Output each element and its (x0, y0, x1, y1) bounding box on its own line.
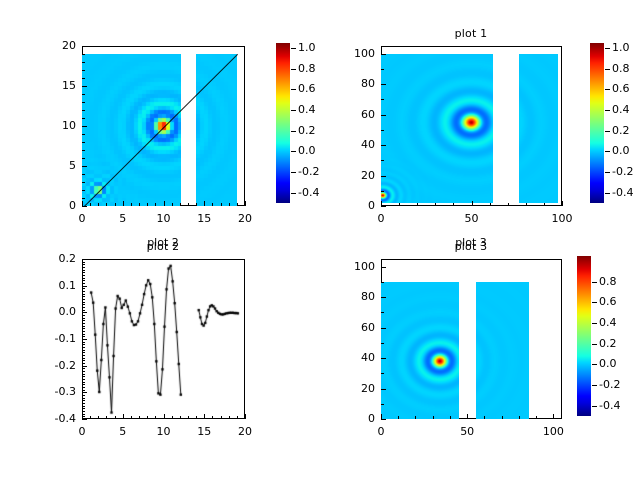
y-tick (381, 145, 386, 146)
colorbar-gradient (577, 256, 591, 416)
plot-area-bottom-left (82, 259, 245, 419)
y-tick-label: -0.4 (24, 412, 76, 425)
x-tick (562, 201, 563, 206)
y-minor-tick (82, 110, 85, 111)
image-block (381, 282, 459, 419)
x-minor-tick (115, 416, 116, 419)
y-minor-tick (82, 158, 85, 159)
y-tick (381, 328, 386, 329)
y-tick (82, 126, 87, 127)
y-minor-tick (82, 387, 85, 388)
y-minor-tick (82, 342, 85, 343)
y-tick (381, 206, 386, 207)
colorbar-tick-label: 0.4 (612, 103, 630, 116)
colorbar-tick-label: 0.8 (612, 62, 630, 75)
y-minor-tick (381, 343, 384, 344)
y-minor-tick (82, 371, 85, 372)
y-minor-tick (82, 414, 85, 415)
y-tick-label: -0.1 (24, 332, 76, 345)
x-minor-tick (221, 416, 222, 419)
y-minor-tick (82, 323, 85, 324)
colorbar-tick-label: 0.6 (612, 82, 630, 95)
y-tick-label: 20 (24, 39, 76, 52)
x-minor-tick (221, 203, 222, 206)
y-tick-label: 60 (323, 108, 375, 121)
y-minor-tick (82, 280, 85, 281)
x-tick-label: 100 (528, 425, 578, 438)
y-minor-tick (82, 360, 85, 361)
y-minor-tick (82, 310, 85, 311)
y-tick-label: -0.2 (24, 359, 76, 372)
colorbar-tick (592, 385, 597, 386)
colorbar-tick (592, 302, 597, 303)
colorbar-tick (291, 172, 296, 173)
x-tick (472, 201, 473, 206)
x-minor-tick (453, 203, 454, 206)
y-minor-tick (82, 331, 85, 332)
y-minor-tick (82, 382, 85, 383)
colorbar-tick (605, 89, 610, 90)
y-tick (381, 115, 386, 116)
x-minor-tick (139, 416, 140, 419)
y-minor-tick (82, 374, 85, 375)
x-minor-tick (180, 416, 181, 419)
x-tick (467, 414, 468, 419)
x-minor-tick (450, 416, 451, 419)
y-minor-tick (82, 62, 85, 63)
colorbar-tick (605, 69, 610, 70)
y-minor-tick (82, 302, 85, 303)
colorbar-tick-label: -0.4 (599, 399, 620, 412)
x-minor-tick (399, 203, 400, 206)
y-minor-tick (82, 352, 85, 353)
colorbar (577, 256, 591, 416)
y-minor-tick (82, 190, 85, 191)
y-minor-tick (82, 262, 85, 263)
colorbar-tick (605, 151, 610, 152)
x-tick-label: 20 (220, 212, 270, 225)
y-minor-tick (381, 160, 384, 161)
y-tick-label: 5 (24, 159, 76, 172)
y-tick (82, 312, 87, 313)
panel-title: plot 3 (391, 240, 551, 253)
y-minor-tick (82, 326, 85, 327)
x-minor-tick (155, 416, 156, 419)
x-minor-tick (139, 203, 140, 206)
y-tick (82, 419, 87, 420)
y-minor-tick (82, 299, 85, 300)
x-minor-tick (212, 416, 213, 419)
y-tick-label: 100 (323, 260, 375, 273)
x-minor-tick (212, 203, 213, 206)
x-tick (164, 201, 165, 206)
y-minor-tick (381, 130, 384, 131)
y-tick (381, 176, 386, 177)
x-minor-tick (237, 416, 238, 419)
y-minor-tick (82, 264, 85, 265)
y-tick (381, 54, 386, 55)
y-minor-tick (82, 70, 85, 71)
colorbar-tick-label: 0.0 (612, 144, 630, 157)
y-minor-tick (82, 94, 85, 95)
x-minor-tick (90, 203, 91, 206)
y-tick (82, 86, 87, 87)
colorbar-tick-label: -0.4 (612, 186, 633, 199)
y-minor-tick (82, 334, 85, 335)
y-tick (82, 286, 87, 287)
x-minor-tick (415, 416, 416, 419)
x-minor-tick (147, 416, 148, 419)
image-block (196, 54, 237, 206)
y-minor-tick (82, 296, 85, 297)
x-tick (123, 414, 124, 419)
pcolor-mesh (196, 54, 237, 206)
colorbar-tick (592, 406, 597, 407)
y-minor-tick (82, 363, 85, 364)
y-minor-tick (82, 408, 85, 409)
y-tick-label: 80 (323, 77, 375, 90)
x-tick (164, 414, 165, 419)
y-minor-tick (82, 278, 85, 279)
x-minor-tick (180, 203, 181, 206)
colorbar-tick (605, 48, 610, 49)
x-tick-label: 50 (447, 212, 497, 225)
y-tick-label: 0 (323, 199, 375, 212)
y-minor-tick (82, 275, 85, 276)
y-minor-tick (82, 358, 85, 359)
y-minor-tick (82, 315, 85, 316)
colorbar-tick (592, 344, 597, 345)
colorbar (276, 43, 290, 203)
x-minor-tick (502, 416, 503, 419)
colorbar-tick-label: 1.0 (298, 41, 316, 54)
x-minor-tick (98, 416, 99, 419)
x-tick (123, 201, 124, 206)
colorbar-tick-label: 1.0 (612, 41, 630, 54)
y-minor-tick (82, 400, 85, 401)
y-minor-tick (82, 270, 85, 271)
y-tick-label: 15 (24, 79, 76, 92)
y-minor-tick (82, 142, 85, 143)
colorbar-tick-label: -0.2 (298, 165, 319, 178)
x-minor-tick (98, 203, 99, 206)
y-tick (381, 389, 386, 390)
x-minor-tick (196, 416, 197, 419)
y-tick (381, 267, 386, 268)
pcolor-mesh (381, 54, 493, 203)
colorbar-tick (291, 69, 296, 70)
colorbar-tick (605, 193, 610, 194)
y-minor-tick (82, 398, 85, 399)
x-minor-tick (131, 203, 132, 206)
y-minor-tick (82, 291, 85, 292)
y-tick (381, 419, 386, 420)
y-minor-tick (381, 282, 384, 283)
x-tick (553, 414, 554, 419)
x-tick-label: 0 (356, 425, 406, 438)
y-minor-tick (381, 69, 384, 70)
x-minor-tick (147, 203, 148, 206)
y-tick (381, 84, 386, 85)
panel-title: plot 2 (83, 240, 243, 253)
y-tick (82, 366, 87, 367)
colorbar-tick (592, 282, 597, 283)
y-minor-tick (381, 312, 384, 313)
x-tick-label: 20 (220, 425, 270, 438)
colorbar-tick (605, 110, 610, 111)
y-minor-tick (82, 347, 85, 348)
x-tick (204, 414, 205, 419)
colorbar-tick (592, 323, 597, 324)
y-minor-tick (381, 191, 384, 192)
y-minor-tick (82, 54, 85, 55)
y-tick-label: 60 (323, 321, 375, 334)
colorbar-tick (291, 151, 296, 152)
colorbar-tick-label: 0.4 (298, 103, 316, 116)
y-minor-tick (82, 307, 85, 308)
y-tick-label: 0.0 (24, 305, 76, 318)
colorbar-tick-label: 0.8 (599, 275, 617, 288)
pcolor-mesh (381, 282, 459, 419)
figure-canvas: plot 205101520051015201.00.80.60.40.20.0… (0, 0, 640, 480)
x-tick (245, 414, 246, 419)
y-minor-tick (82, 198, 85, 199)
x-minor-tick (172, 416, 173, 419)
y-minor-tick (82, 379, 85, 380)
y-minor-tick (82, 344, 85, 345)
colorbar-tick-label: -0.4 (298, 186, 319, 199)
colorbar-tick (605, 172, 610, 173)
y-minor-tick (82, 134, 85, 135)
y-tick-label: 80 (323, 290, 375, 303)
y-minor-tick (82, 182, 85, 183)
y-tick (82, 206, 87, 207)
x-minor-tick (196, 203, 197, 206)
y-minor-tick (82, 355, 85, 356)
colorbar-tick-label: -0.2 (612, 165, 633, 178)
colorbar-tick-label: 0.4 (599, 316, 617, 329)
x-minor-tick (155, 203, 156, 206)
x-minor-tick (229, 203, 230, 206)
y-minor-tick (82, 174, 85, 175)
colorbar (590, 43, 604, 203)
y-minor-tick (82, 411, 85, 412)
x-minor-tick (106, 203, 107, 206)
y-minor-tick (82, 416, 85, 417)
colorbar-tick-label: 0.2 (612, 124, 630, 137)
y-minor-tick (82, 328, 85, 329)
x-minor-tick (188, 416, 189, 419)
colorbar-tick-label: 0.6 (599, 295, 617, 308)
x-minor-tick (188, 203, 189, 206)
panel-title: plot 1 (391, 27, 551, 40)
y-tick-label: -0.3 (24, 385, 76, 398)
y-minor-tick (82, 384, 85, 385)
y-tick-label: 20 (323, 169, 375, 182)
y-tick-label: 0 (24, 199, 76, 212)
y-tick (82, 339, 87, 340)
x-minor-tick (526, 203, 527, 206)
y-tick-label: 10 (24, 119, 76, 132)
y-tick-label: 0.1 (24, 279, 76, 292)
y-minor-tick (82, 78, 85, 79)
pcolor-mesh (519, 54, 559, 203)
y-minor-tick (82, 288, 85, 289)
y-tick (82, 46, 87, 47)
x-minor-tick (519, 416, 520, 419)
y-minor-tick (82, 150, 85, 151)
y-minor-tick (82, 376, 85, 377)
pcolor-mesh (82, 54, 181, 206)
colorbar-tick (291, 131, 296, 132)
y-tick-label: 0 (323, 412, 375, 425)
pcolor-mesh (476, 282, 529, 419)
y-minor-tick (82, 102, 85, 103)
line-series-canvas (83, 260, 246, 420)
x-tick-label: 0 (356, 212, 406, 225)
x-minor-tick (106, 416, 107, 419)
y-tick (381, 297, 386, 298)
x-tick-label: 50 (442, 425, 492, 438)
y-minor-tick (381, 373, 384, 374)
y-minor-tick (381, 99, 384, 100)
x-minor-tick (398, 416, 399, 419)
y-minor-tick (82, 283, 85, 284)
x-tick (204, 201, 205, 206)
colorbar-tick (291, 110, 296, 111)
colorbar-tick-label: -0.2 (599, 378, 620, 391)
colorbar-tick-label: 0.8 (298, 62, 316, 75)
colorbar-tick (291, 89, 296, 90)
y-minor-tick (381, 404, 384, 405)
x-minor-tick (435, 203, 436, 206)
x-minor-tick (131, 416, 132, 419)
x-minor-tick (417, 203, 418, 206)
y-tick (381, 358, 386, 359)
y-minor-tick (82, 272, 85, 273)
colorbar-tick-label: 0.0 (599, 357, 617, 370)
x-minor-tick (237, 203, 238, 206)
y-minor-tick (82, 390, 85, 391)
y-minor-tick (82, 406, 85, 407)
colorbar-gradient (590, 43, 604, 203)
x-minor-tick (90, 416, 91, 419)
x-minor-tick (544, 203, 545, 206)
colorbar-tick-label: 0.6 (298, 82, 316, 95)
y-minor-tick (82, 336, 85, 337)
y-tick (82, 259, 87, 260)
colorbar-tick-label: 0.2 (599, 337, 617, 350)
y-tick-label: 20 (323, 382, 375, 395)
x-minor-tick (172, 203, 173, 206)
image-block (476, 282, 529, 419)
y-minor-tick (82, 320, 85, 321)
y-tick-label: 0.2 (24, 252, 76, 265)
y-tick (82, 392, 87, 393)
x-minor-tick (229, 416, 230, 419)
image-block (82, 54, 181, 206)
y-minor-tick (82, 395, 85, 396)
x-minor-tick (490, 203, 491, 206)
x-minor-tick (536, 416, 537, 419)
colorbar-tick (291, 193, 296, 194)
y-tick-label: 40 (323, 138, 375, 151)
y-minor-tick (82, 118, 85, 119)
x-minor-tick (484, 416, 485, 419)
x-tick (245, 201, 246, 206)
x-minor-tick (508, 203, 509, 206)
y-minor-tick (82, 304, 85, 305)
x-minor-tick (115, 203, 116, 206)
y-minor-tick (82, 318, 85, 319)
y-minor-tick (82, 403, 85, 404)
colorbar-tick (592, 364, 597, 365)
colorbar-gradient (276, 43, 290, 203)
image-block (381, 54, 493, 203)
y-tick-label: 100 (323, 47, 375, 60)
colorbar-tick (605, 131, 610, 132)
y-minor-tick (82, 267, 85, 268)
x-minor-tick (433, 416, 434, 419)
image-block (519, 54, 559, 203)
colorbar-tick-label: 0.0 (298, 144, 316, 157)
colorbar-tick (291, 48, 296, 49)
x-tick-label: 100 (537, 212, 587, 225)
y-minor-tick (82, 368, 85, 369)
y-minor-tick (82, 294, 85, 295)
y-tick (82, 166, 87, 167)
y-tick-label: 40 (323, 351, 375, 364)
y-minor-tick (82, 350, 85, 351)
colorbar-tick-label: 0.2 (298, 124, 316, 137)
